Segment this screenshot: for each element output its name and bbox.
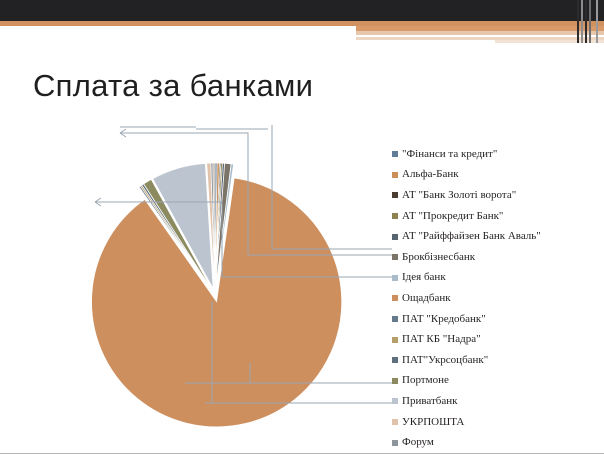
banner-vstrip-5 — [596, 0, 598, 43]
legend-item-label: ПАТ "Кредобанк" — [402, 314, 486, 325]
legend-item[interactable]: Брокбізнесбанк — [392, 247, 592, 268]
banner-vstrip-1 — [577, 0, 579, 43]
banner-dark-bar — [0, 0, 604, 21]
legend-item-label: АТ "Банк Золоті ворота" — [402, 190, 516, 201]
legend-color-swatch — [392, 275, 398, 281]
banner-pale-bar-3 — [495, 40, 604, 43]
legend-item-label: Ощадбанк — [402, 293, 451, 304]
legend-color-swatch — [392, 295, 398, 301]
legend-item-label: Форум — [402, 437, 434, 448]
legend-item-label: Брокбізнесбанк — [402, 252, 475, 263]
legend-item-label: Портмоне — [402, 375, 449, 386]
legend-item[interactable]: Форум — [392, 432, 592, 453]
legend-item[interactable]: АТ "Райффайзен Банк Аваль" — [392, 226, 592, 247]
legend-item[interactable]: УКРПОШТА — [392, 412, 592, 433]
legend-item[interactable]: Альфа-Банк — [392, 165, 592, 186]
legend-item-label: Приватбанк — [402, 396, 458, 407]
legend-item-label: УКРПОШТА — [402, 417, 464, 428]
legend-item[interactable]: Ощадбанк — [392, 288, 592, 309]
chart-legend: "Фінанси та кредит"Альфа-БанкАТ "Банк Зо… — [392, 144, 592, 454]
legend-item[interactable]: "Фінанси та кредит" — [392, 144, 592, 165]
legend-item[interactable]: ПАТ "Кредобанк" — [392, 309, 592, 330]
legend-color-swatch — [392, 316, 398, 322]
legend-item-label: Альфа-Банк — [402, 169, 459, 180]
banner-white-gap-2 — [356, 40, 496, 42]
leader-line-1 — [120, 133, 248, 255]
callout-leader-lines — [0, 105, 400, 445]
banner-vstrip-2 — [581, 0, 583, 43]
banner-vstrip-4 — [589, 0, 591, 43]
legend-color-swatch — [392, 151, 398, 157]
legend-item[interactable]: Приватбанк — [392, 391, 592, 412]
legend-item[interactable]: Портмоне — [392, 371, 592, 392]
legend-item-label: "Фінанси та кредит" — [402, 149, 497, 160]
legend-color-swatch — [392, 440, 398, 446]
legend-color-swatch — [392, 234, 398, 240]
legend-item-label: АТ "Райффайзен Банк Аваль" — [402, 231, 541, 242]
legend-item-label: Ідея банк — [402, 272, 446, 283]
legend-color-swatch — [392, 378, 398, 384]
legend-item-label: ПАТ КБ "Надра" — [402, 334, 481, 345]
legend-color-swatch — [392, 213, 398, 219]
legend-color-swatch — [392, 172, 398, 178]
legend-color-swatch — [392, 192, 398, 198]
legend-item[interactable]: ПАТ"Укрсоцбанк" — [392, 350, 592, 371]
legend-item[interactable]: Ідея банк — [392, 268, 592, 289]
legend-color-swatch — [392, 357, 398, 363]
legend-color-swatch — [392, 254, 398, 260]
legend-item[interactable]: ПАТ КБ "Надра" — [392, 329, 592, 350]
legend-item-label: ПАТ"Укрсоцбанк" — [402, 355, 488, 366]
legend-color-swatch — [392, 398, 398, 404]
legend-color-swatch — [392, 337, 398, 343]
legend-item-label: АТ "Прокредит Банк" — [402, 211, 503, 222]
slide-canvas: Сплата за банками "Фінанси та креди — [0, 0, 604, 454]
legend-color-swatch — [392, 419, 398, 425]
leader-line-2 — [95, 202, 222, 277]
page-title: Сплата за банками — [33, 68, 313, 104]
legend-item[interactable]: АТ "Прокредит Банк" — [392, 206, 592, 227]
legend-item[interactable]: АТ "Банк Золоті ворота" — [392, 185, 592, 206]
banner-vstrip-3 — [585, 0, 587, 43]
